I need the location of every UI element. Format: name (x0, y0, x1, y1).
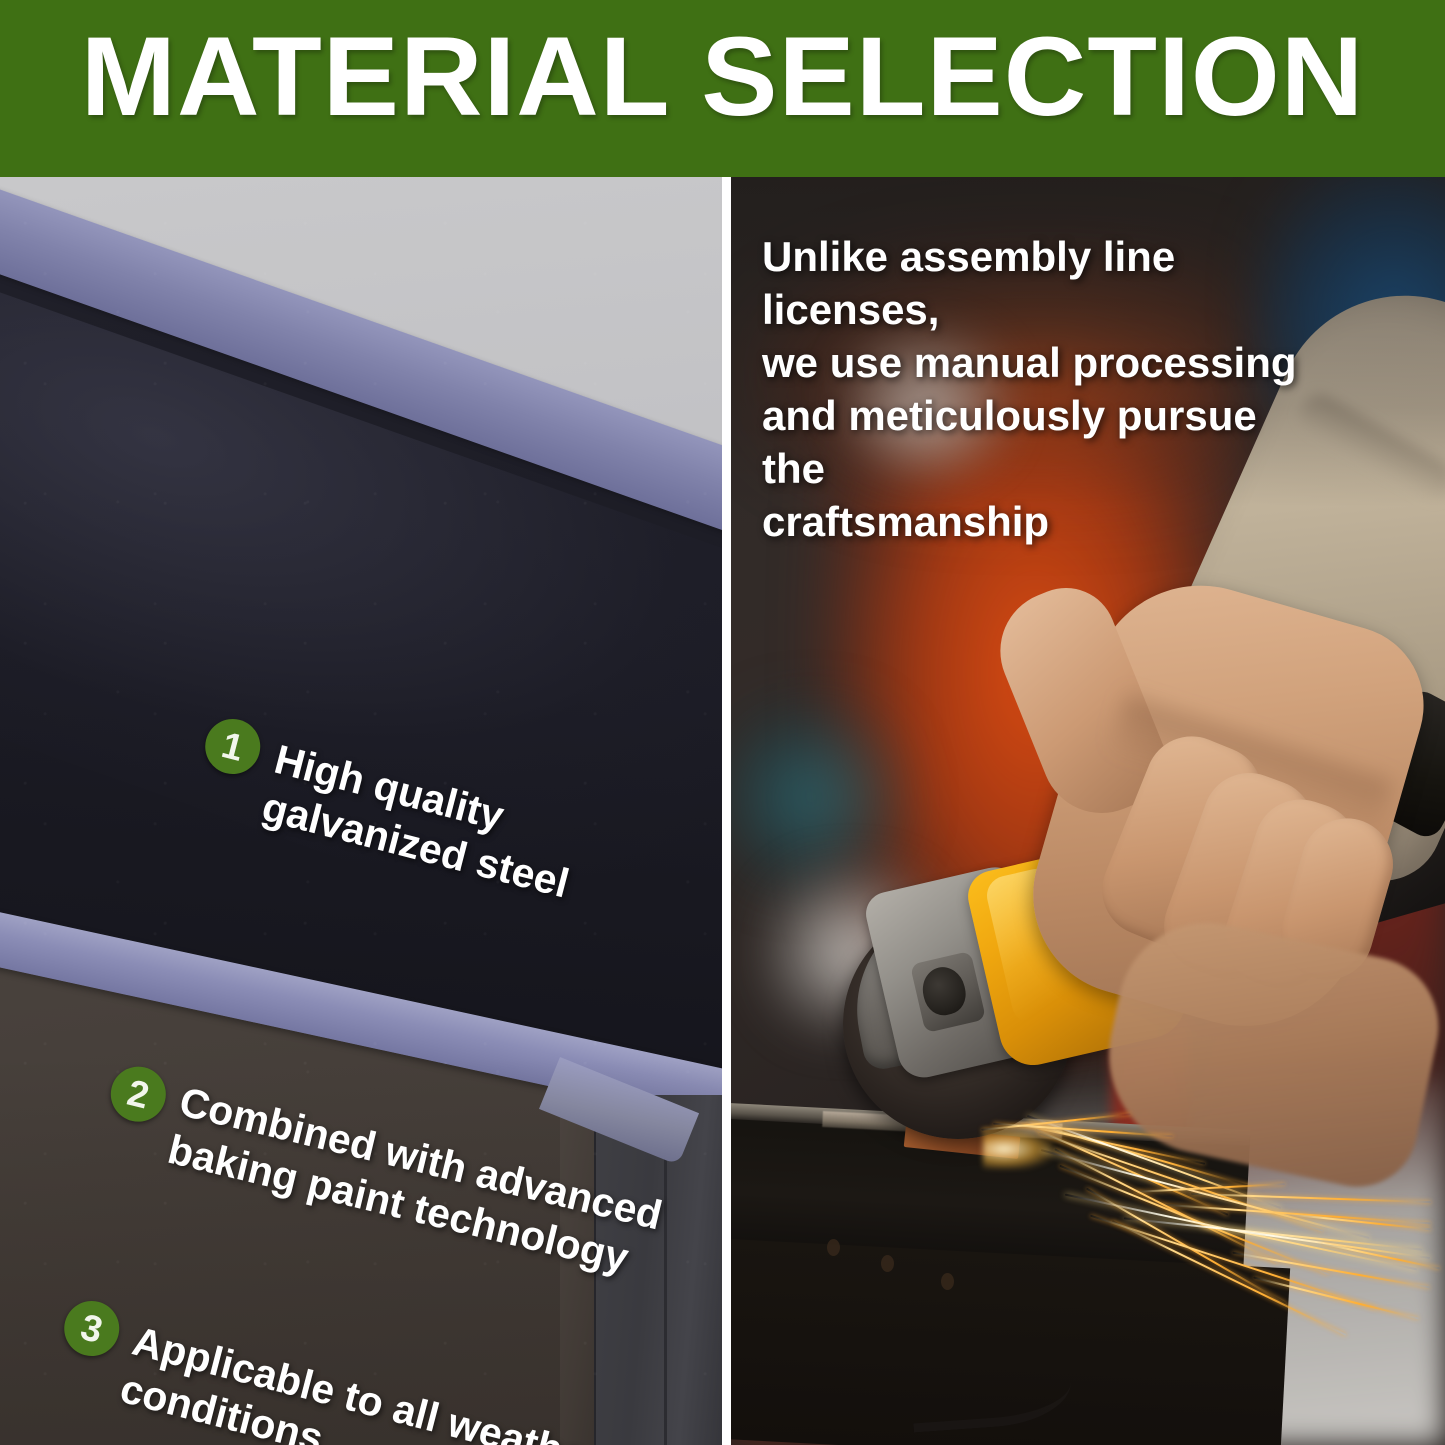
material-selection-infographic: MATERIAL SELECTION 1 High quality galvan… (0, 0, 1445, 1445)
header-banner: MATERIAL SELECTION (0, 0, 1445, 177)
right-image-panel: Unlike assembly line licenses, we use ma… (731, 177, 1445, 1445)
right-panel-caption: Unlike assembly line licenses, we use ma… (762, 230, 1302, 548)
page-title: MATERIAL SELECTION (0, 18, 1445, 136)
panels-container: 1 High quality galvanized steel 2 Combin… (0, 177, 1445, 1445)
grinder-power-cord (908, 1342, 1073, 1433)
callout-badge-2: 2 (105, 1061, 171, 1127)
left-image-panel: 1 High quality galvanized steel 2 Combin… (0, 177, 722, 1445)
panel-divider (722, 177, 731, 1445)
